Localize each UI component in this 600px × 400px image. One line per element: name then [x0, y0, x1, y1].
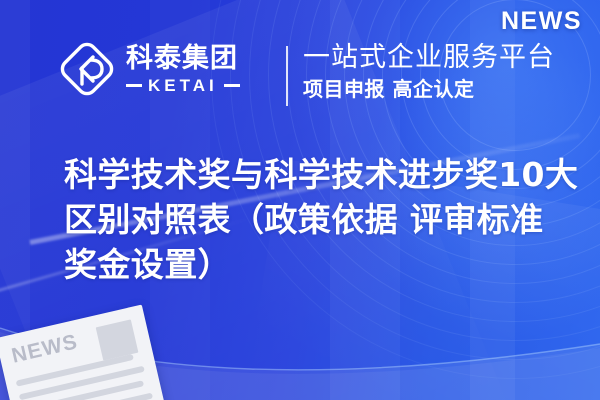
ketai-diamond-monogram-icon [58, 40, 116, 98]
header-divider [286, 46, 288, 106]
brand-rule-left [126, 84, 142, 87]
tagline-sub: 项目申报 高企认定 [303, 77, 555, 102]
brand-name-en: KETAI [148, 77, 218, 94]
tagline-main: 一站式企业服务平台 [303, 42, 555, 73]
brand-name-en-row: KETAI [126, 77, 240, 94]
brand-text: 科泰集团 KETAI [126, 45, 240, 94]
banner-header: 科泰集团 KETAI 一站式企业服务平台 项目申报 高企认定 NEWS [0, 0, 600, 130]
news-corner-label: NEWS [501, 7, 582, 36]
tagline-block: 一站式企业服务平台 项目申报 高企认定 [303, 42, 555, 102]
page-title: 科学技术奖与科学技术进步奖10大区别对照表（政策依据 评审标准 奖金设置） [64, 152, 580, 287]
brand-rule-right [224, 84, 240, 87]
newspaper-icon: NEWS [0, 305, 166, 400]
news-banner: 科泰集团 KETAI 一站式企业服务平台 项目申报 高企认定 NEWS 科学技术… [0, 0, 600, 400]
brand-name-cn: 科泰集团 [126, 45, 240, 72]
brand-logo[interactable]: 科泰集团 KETAI [58, 40, 240, 98]
